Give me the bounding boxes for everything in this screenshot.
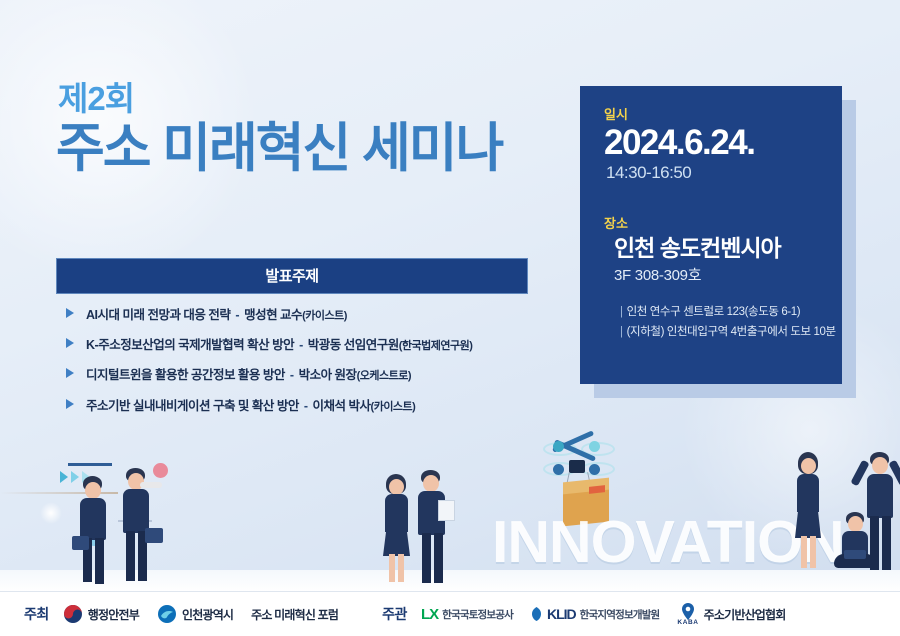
- person-businessman-back: [74, 476, 114, 584]
- topic-separator: -: [299, 338, 303, 352]
- topic-speaker: 이채석 박사: [313, 399, 371, 413]
- host-item: 주소 미래혁신 포럼: [251, 606, 338, 623]
- topics-section: 발표주제 AI시대 미래 전망과 대응 전략-맹성현 교수(카이스트) K-주소…: [56, 258, 528, 429]
- triangle-bullet-icon: [66, 399, 74, 409]
- leg: [434, 533, 443, 583]
- briefcase: [72, 536, 89, 550]
- person-with-document: [412, 470, 454, 584]
- venue-note-text: (지하철) 인천대입구역 4번출구에서 도보 10분: [627, 326, 836, 338]
- organizer-name: 주소기반산업협회: [704, 606, 786, 623]
- propeller: [553, 464, 564, 475]
- arm: [136, 492, 144, 512]
- topic-speaker: 박광동 선임연구원: [308, 338, 399, 352]
- event-time: 14:30-16:50: [606, 163, 818, 183]
- seminar-poster: 제2회 주소 미래혁신 세미나 일시 2024.6.24. 14:30-16:5…: [0, 0, 900, 636]
- venue-room: 3F 308-309호: [614, 264, 818, 285]
- organizer-name: 한국지역정보개발원: [580, 607, 660, 622]
- incheon-swirl-icon: [157, 604, 177, 624]
- decor-glow: [40, 502, 62, 524]
- topic-text: AI시대 미래 전망과 대응 전략-맹성현 교수(카이스트): [86, 308, 347, 323]
- skirt: [383, 530, 410, 556]
- document: [438, 500, 455, 521]
- decor-line: [68, 463, 112, 466]
- briefcase: [145, 528, 163, 543]
- venue-label: 장소: [604, 217, 818, 231]
- telescope: [140, 482, 162, 488]
- torso: [867, 474, 893, 518]
- leg: [810, 536, 816, 568]
- host-item: 인천광역시: [157, 604, 233, 624]
- venue-block: 장소 인천 송도컨벤시아 3F 308-309호 |인천 연수구 센트럴로 12…: [604, 217, 818, 342]
- head: [85, 482, 101, 499]
- page-title: 주소 미래혁신 세미나: [56, 119, 502, 178]
- drone-body: [569, 460, 585, 473]
- illustration: INNOVATION: [0, 420, 900, 592]
- organizer-label: 주관: [382, 604, 407, 624]
- info-panel: 일시 2024.6.24. 14:30-16:50 장소 인천 송도컨벤시아 3…: [580, 86, 842, 384]
- topics-list: AI시대 미래 전망과 대응 전략-맹성현 교수(카이스트) K-주소정보산업의…: [56, 308, 528, 414]
- topic-speaker: 맹성현 교수: [244, 308, 302, 322]
- poster-title-block: 제2회 주소 미래혁신 세미나: [56, 82, 502, 178]
- leg: [801, 536, 807, 568]
- topic-title: 주소기반 실내내비게이션 구축 및 확산 방안: [86, 399, 299, 413]
- propeller: [553, 441, 564, 452]
- leg: [389, 554, 395, 582]
- arm: [397, 496, 404, 512]
- host-name: 주소 미래혁신 포럼: [251, 606, 338, 623]
- kaba-mark: KABA: [677, 619, 698, 626]
- leg: [870, 516, 879, 570]
- note-tick-icon: |: [620, 326, 623, 338]
- triangle-bullet-icon: [66, 368, 74, 378]
- footer-bar: 주최 행정안전부 인천광역시: [0, 591, 900, 636]
- head: [389, 479, 404, 495]
- person-woman-phone: [378, 474, 416, 584]
- topic-separator: -: [290, 368, 294, 382]
- taegeuk-icon: [63, 604, 83, 624]
- host-name: 행정안전부: [88, 606, 139, 623]
- propeller: [589, 441, 600, 452]
- lx-icon: LX: [421, 606, 438, 623]
- leg: [882, 516, 891, 570]
- host-name: 인천광역시: [182, 606, 233, 623]
- topic-separator: -: [235, 308, 239, 322]
- list-item: K-주소정보산업의 국제개발협력 확산 방안-박광동 선임연구원(한국법제연구원…: [66, 338, 528, 353]
- head: [801, 458, 816, 474]
- leg: [95, 538, 104, 584]
- topic-title: 디지털트윈을 활용한 공간정보 활용 방안: [86, 368, 285, 382]
- triangle-bullet-icon: [66, 308, 74, 318]
- klid-mark: KLID: [547, 606, 576, 622]
- skirt: [795, 510, 821, 538]
- topic-org: (오케스트로): [357, 370, 411, 382]
- list-item: 주소기반 실내내비게이션 구축 및 확산 방안-이채석 박사(카이스트): [66, 399, 528, 414]
- date-label: 일시: [604, 108, 818, 122]
- person-woman-standing: [790, 452, 826, 572]
- torso: [80, 498, 106, 540]
- host-group: 주최 행정안전부 인천광역시: [24, 604, 356, 624]
- host-label: 주최: [24, 604, 49, 624]
- host-item: 행정안전부: [63, 604, 139, 624]
- organizer-item: LX 한국국토정보공사: [421, 606, 513, 623]
- topic-speaker: 박소아 원장: [299, 368, 357, 382]
- triangle-bullet-icon: [66, 338, 74, 348]
- note-tick-icon: |: [620, 306, 623, 318]
- venue-notes: |인천 연수구 센트럴로 123(송도동 6-1) |(지하철) 인천대입구역 …: [620, 302, 818, 342]
- topic-org: (한국법제연구원): [399, 340, 473, 352]
- venue-note: |(지하철) 인천대입구역 4번출구에서 도보 10분: [620, 322, 818, 342]
- topic-title: AI시대 미래 전망과 대응 전략: [86, 308, 230, 322]
- head: [423, 475, 439, 492]
- person-with-telescope: [118, 468, 164, 584]
- venue-note-text: 인천 연수구 센트럴로 123(송도동 6-1): [627, 306, 801, 318]
- klid-icon: [531, 607, 542, 621]
- topic-text: K-주소정보산업의 국제개발협력 확산 방안-박광동 선임연구원(한국법제연구원…: [86, 338, 472, 353]
- organizer-item: KABA 주소기반산업협회: [677, 603, 785, 626]
- topic-org: (카이스트): [302, 310, 347, 322]
- list-item: AI시대 미래 전망과 대응 전략-맹성현 교수(카이스트): [66, 308, 528, 323]
- topic-separator: -: [304, 399, 308, 413]
- organizer-item: KLID 한국지역정보개발원: [531, 606, 659, 622]
- organizer-group: 주관 LX 한국국토정보공사 KLID 한국지역정보개발원: [382, 603, 803, 626]
- torso: [797, 474, 819, 512]
- topics-heading: 발표주제: [56, 258, 528, 294]
- leg: [126, 531, 135, 581]
- leg: [422, 533, 431, 583]
- list-item: 디지털트윈을 활용한 공간정보 활용 방안-박소아 원장(오케스트로): [66, 368, 528, 383]
- head: [872, 457, 888, 474]
- edition-label: 제2회: [58, 82, 502, 117]
- map-pin-icon: KABA: [677, 603, 698, 626]
- topic-text: 주소기반 실내내비게이션 구축 및 확산 방안-이채석 박사(카이스트): [86, 399, 415, 414]
- event-date: 2024.6.24.: [604, 125, 818, 161]
- organizer-name: 한국국토정보공사: [442, 607, 513, 622]
- venue-note: |인천 연수구 센트럴로 123(송도동 6-1): [620, 302, 818, 322]
- leg: [398, 554, 404, 582]
- topic-org: (카이스트): [371, 401, 416, 413]
- topic-text: 디지털트윈을 활용한 공간정보 활용 방안-박소아 원장(오케스트로): [86, 368, 411, 383]
- person-arms-raised: [858, 444, 900, 574]
- propeller: [589, 464, 600, 475]
- venue-name: 인천 송도컨벤시아: [614, 235, 818, 261]
- topic-title: K-주소정보산업의 국제개발협력 확산 방안: [86, 338, 294, 352]
